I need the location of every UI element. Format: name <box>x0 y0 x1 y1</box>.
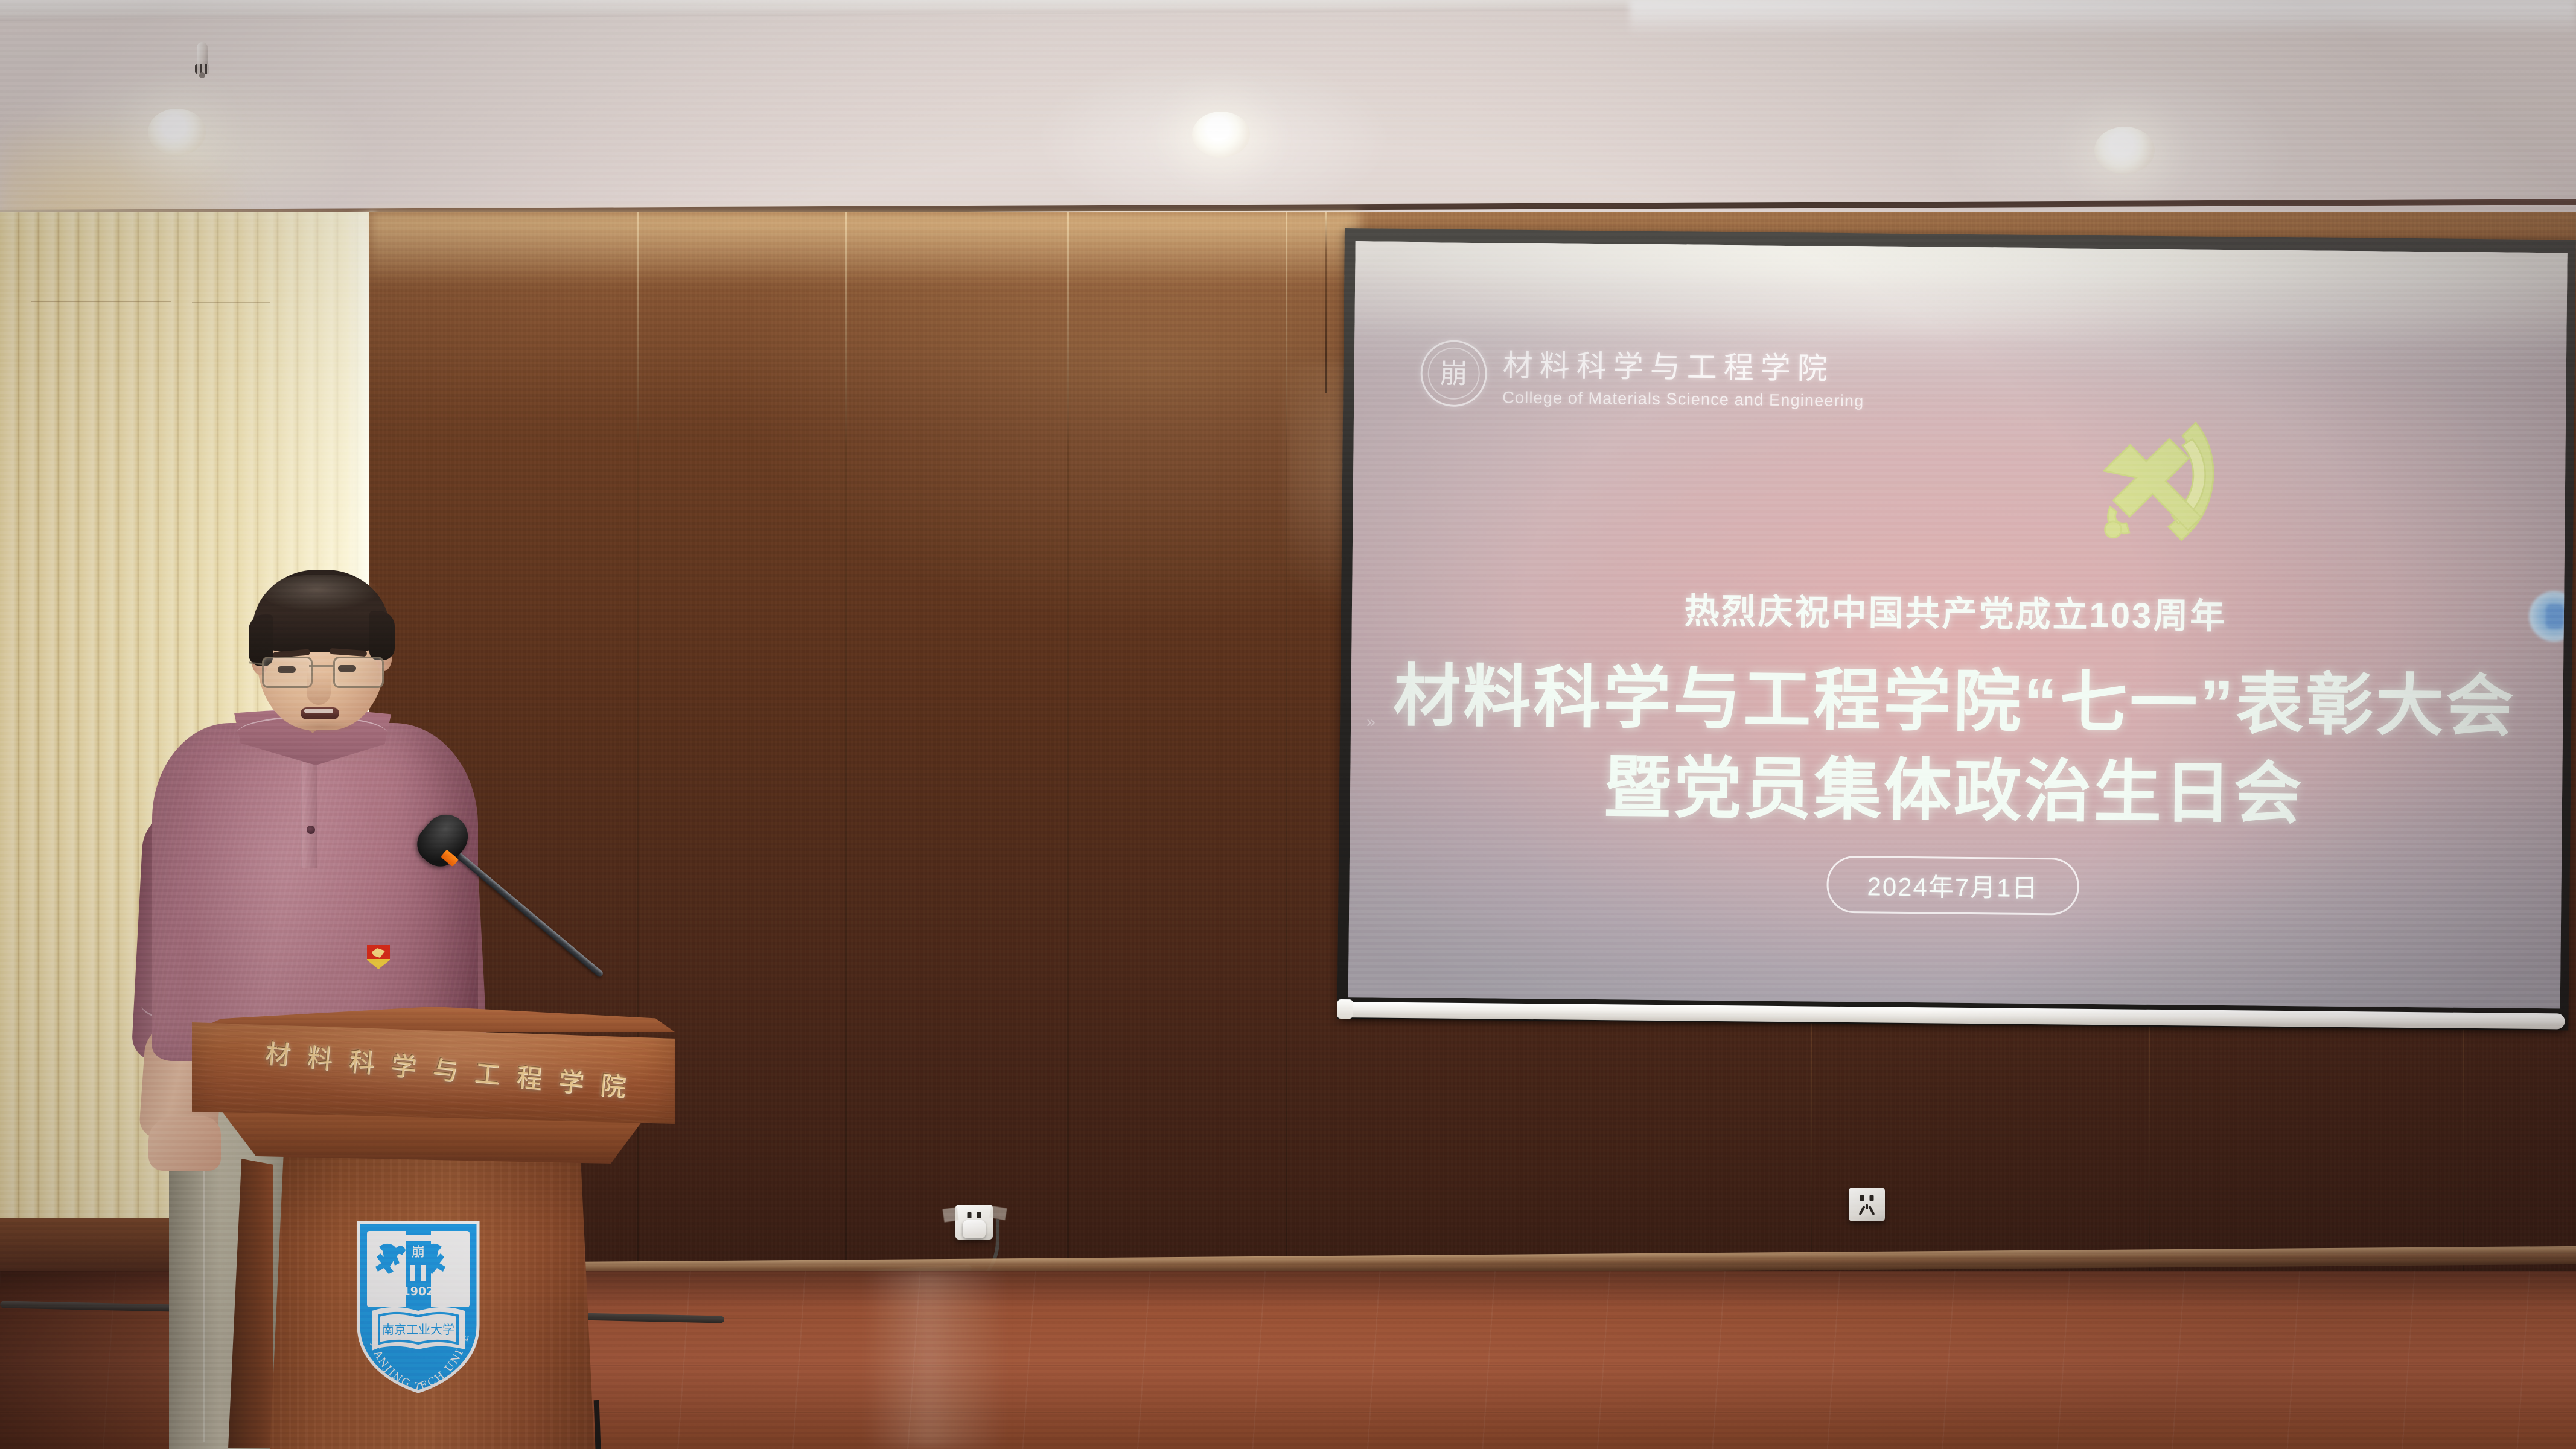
university-name-cn: 南京工业大学 <box>382 1322 454 1337</box>
projection-screen-surface: 崩 材料科学与工程学院 College of Materials Science… <box>1348 241 2568 1008</box>
photo-scene: 崩 材料科学与工程学院 College of Materials Science… <box>0 0 2576 1449</box>
microphone-stem <box>440 839 604 978</box>
lectern-podium: 材 料 科 学 与 工 程 学 院 <box>192 978 675 1449</box>
speaker-nose <box>307 671 331 705</box>
screen-vignette <box>1348 241 2568 1008</box>
podium-nameplate-char: 材 <box>264 1041 292 1069</box>
podium-nameplate-char: 院 <box>599 1072 627 1100</box>
ceiling-downlight-icon <box>2094 127 2155 174</box>
ceiling <box>0 0 2576 217</box>
ceiling-downlight-icon <box>148 109 206 156</box>
wall-panel-seam <box>1067 212 1069 1281</box>
podium-nameplate-char: 料 <box>306 1045 334 1072</box>
university-emblem-glyph: 崩 <box>412 1245 425 1260</box>
cove-lighting <box>369 212 1359 285</box>
ceiling-downlight-icon <box>1192 112 1250 158</box>
podium-nameplate-char: 与 <box>432 1057 459 1084</box>
wall-panel-seam <box>2463 1002 2464 1279</box>
nanjing-tech-university-emblem: 崩 1902 南京工业大学 NANJING TECH UNIVERSITY <box>355 1219 482 1394</box>
podium-nameplate-char: 学 <box>390 1053 418 1081</box>
podium-nameplate-char: 工 <box>473 1061 501 1089</box>
university-founded-year: 1902 <box>403 1285 435 1298</box>
wall-panel-seam <box>2149 1002 2150 1279</box>
podium-cable <box>594 1400 605 1449</box>
wall-power-outlet[interactable] <box>1849 1188 1885 1221</box>
wall-panel-seam <box>845 212 847 1281</box>
podium-nameplate-char: 程 <box>515 1065 543 1092</box>
floor-light-reflection <box>863 1271 1008 1449</box>
podium-nameplate-char: 学 <box>557 1069 585 1097</box>
wall-panel-seam <box>1811 1002 1812 1279</box>
ceiling-highlight <box>1630 0 2576 36</box>
communist-party-emblem-pin <box>367 945 390 969</box>
podium-nameplate-char: 科 <box>348 1049 375 1077</box>
fire-sprinkler-icon <box>193 42 211 80</box>
projection-screen: 崩 材料科学与工程学院 College of Materials Science… <box>1337 228 2575 1031</box>
shirt-button <box>307 826 315 834</box>
podium-side-panel <box>228 1159 273 1448</box>
